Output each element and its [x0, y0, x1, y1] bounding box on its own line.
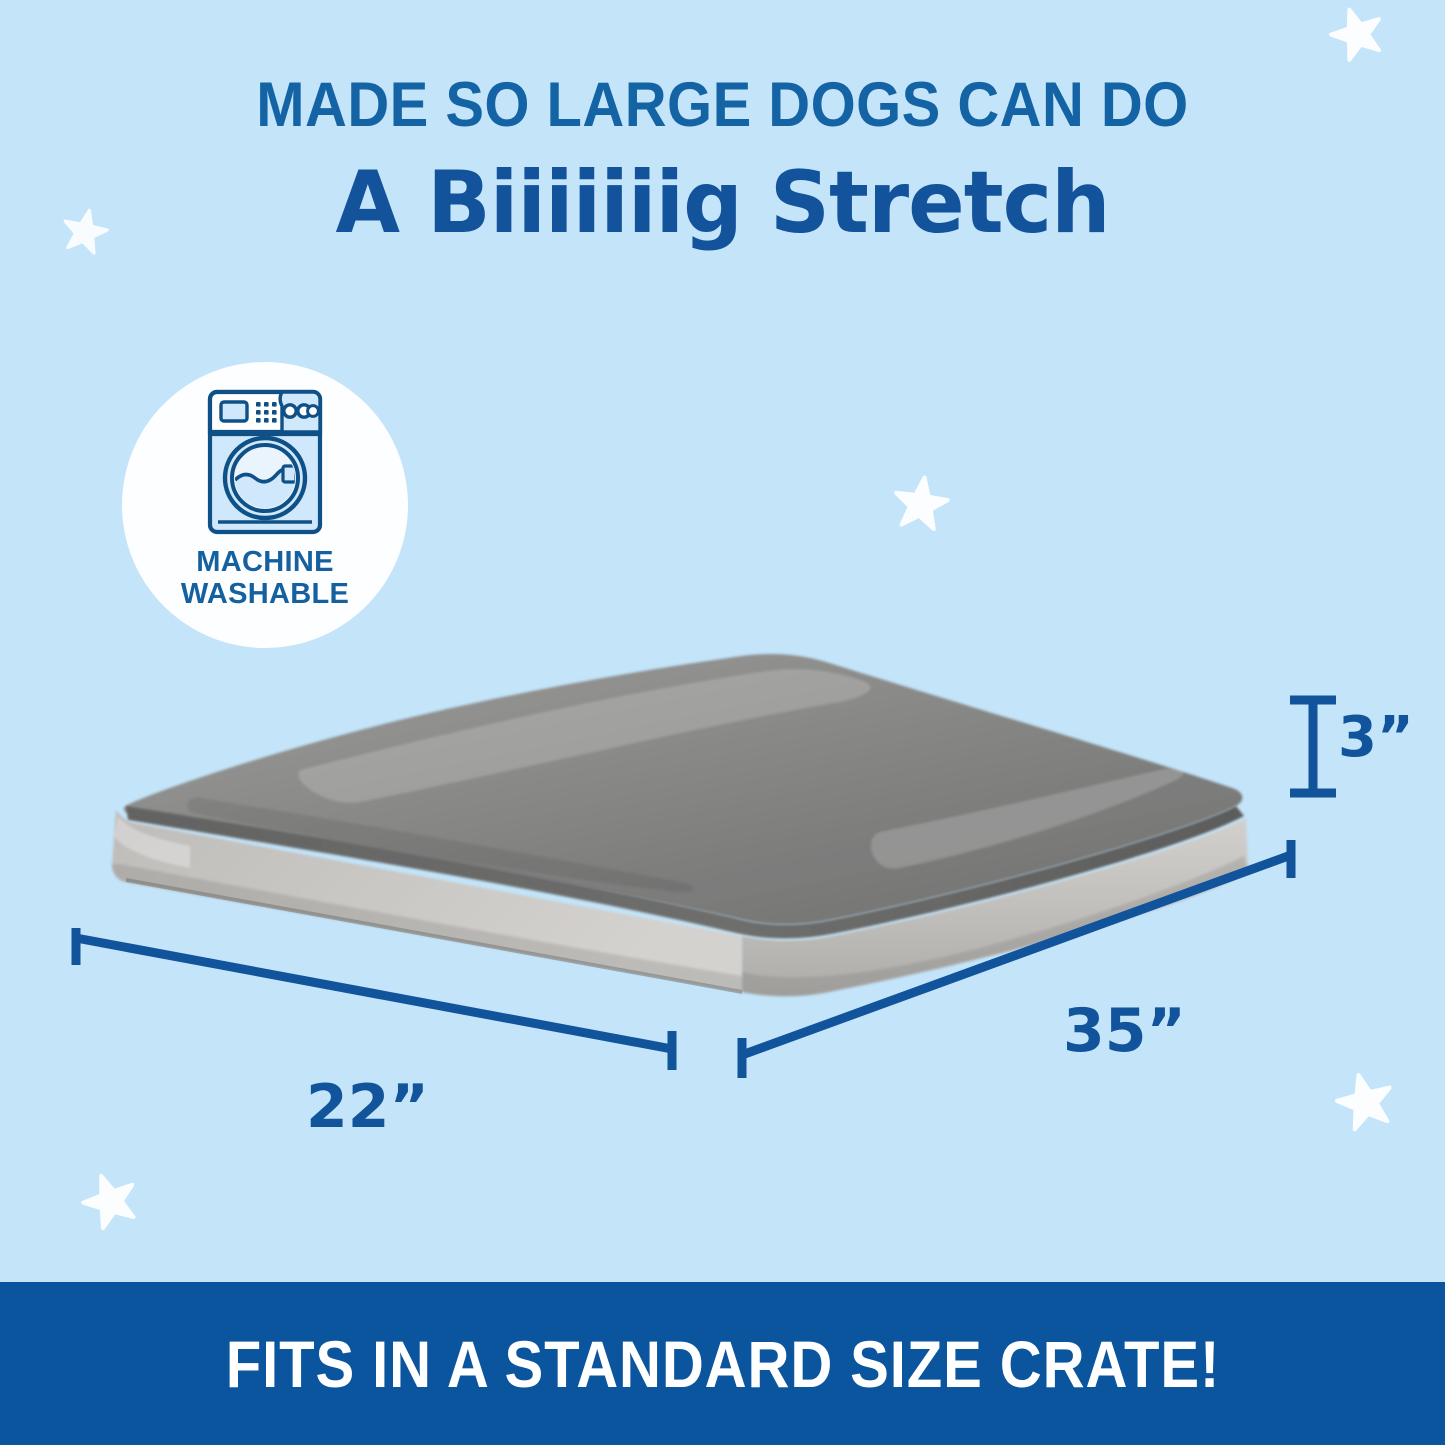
dimension-label-width: 22” — [306, 1072, 429, 1142]
badge-caption-line2: WASHABLE — [181, 578, 349, 610]
badge-caption-line1: MACHINE — [181, 546, 349, 578]
headline-kicker: MADE SO LARGE DOGS CAN DO — [58, 72, 1387, 138]
star-top-right-icon — [1323, 0, 1391, 67]
machine-washable-badge: MACHINE WASHABLE — [122, 362, 408, 648]
headline-block: MADE SO LARGE DOGS CAN DO A Biiiiiiig St… — [0, 72, 1445, 251]
banner-text: FITS IN A STANDARD SIZE CRATE! — [225, 1326, 1219, 1402]
star-mid-right-icon — [889, 471, 952, 534]
star-bottom-right-icon — [1330, 1066, 1400, 1136]
washing-machine-icon — [204, 386, 326, 538]
page-title: A Biiiiiiig Stretch — [22, 156, 1424, 251]
bottom-banner: FITS IN A STANDARD SIZE CRATE! — [0, 1282, 1445, 1445]
dimension-label-height: 3” — [1338, 705, 1414, 770]
product-infographic: MADE SO LARGE DOGS CAN DO A Biiiiiiig St… — [0, 0, 1445, 1445]
star-bottom-left-icon — [74, 1164, 146, 1236]
dimension-label-depth: 35” — [1063, 996, 1186, 1066]
product-image-dog-bed — [0, 620, 1445, 1040]
machine-washable-caption: MACHINE WASHABLE — [181, 546, 349, 611]
